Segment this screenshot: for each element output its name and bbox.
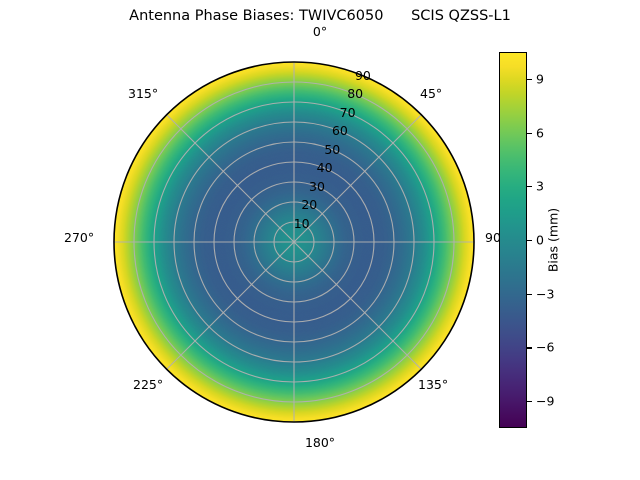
colorbar-tick-mark: [527, 79, 532, 80]
colorbar-tick-label: 0: [536, 233, 544, 248]
radial-tick-label: 30: [309, 180, 325, 193]
angular-tick-315: 315°: [128, 88, 158, 101]
polar-plot-area: 102030405060708090: [108, 56, 480, 428]
radial-tick-label: 90: [355, 69, 371, 82]
radial-tick-label: 50: [324, 143, 340, 156]
radial-tick-label: 80: [347, 88, 363, 101]
figure-canvas: Antenna Phase Biases: TWIVC6050 SCIS QZS…: [0, 0, 640, 480]
colorbar-tick-label: −6: [536, 340, 554, 355]
colorbar-tick-label: −3: [536, 286, 554, 301]
angular-tick-135: 135°: [418, 379, 448, 392]
radial-tick-label: 60: [332, 125, 348, 138]
polar-contour-plot: [108, 56, 480, 428]
colorbar: 9630−3−6−9 Bias (mm): [499, 52, 591, 432]
colorbar-tick-label: 9: [536, 71, 544, 86]
colorbar-tick-mark: [527, 401, 532, 402]
colorbar-tick-label: 6: [536, 125, 544, 140]
colorbar-tick-mark: [527, 347, 532, 348]
radial-tick-label: 70: [340, 106, 356, 119]
radial-tick-label: 20: [301, 199, 317, 212]
angular-tick-180: 180°: [0, 437, 640, 450]
angular-tick-225: 225°: [133, 379, 163, 392]
chart-title: Antenna Phase Biases: TWIVC6050 SCIS QZS…: [0, 8, 640, 24]
colorbar-tick-label: 3: [536, 179, 544, 194]
angular-tick-270: 270°: [64, 232, 94, 245]
colorbar-gradient: [499, 52, 527, 428]
angular-tick-0: 0°: [0, 26, 640, 39]
radial-tick-label: 40: [317, 162, 333, 175]
colorbar-tick-mark: [527, 133, 532, 134]
colorbar-label: Bias (mm): [546, 208, 561, 272]
colorbar-tick-mark: [527, 186, 532, 187]
radial-tick-label: 10: [294, 217, 310, 230]
colorbar-tick-mark: [527, 294, 532, 295]
angular-tick-45: 45°: [420, 88, 442, 101]
colorbar-tick-label: −9: [536, 394, 554, 409]
colorbar-tick-mark: [527, 240, 532, 241]
